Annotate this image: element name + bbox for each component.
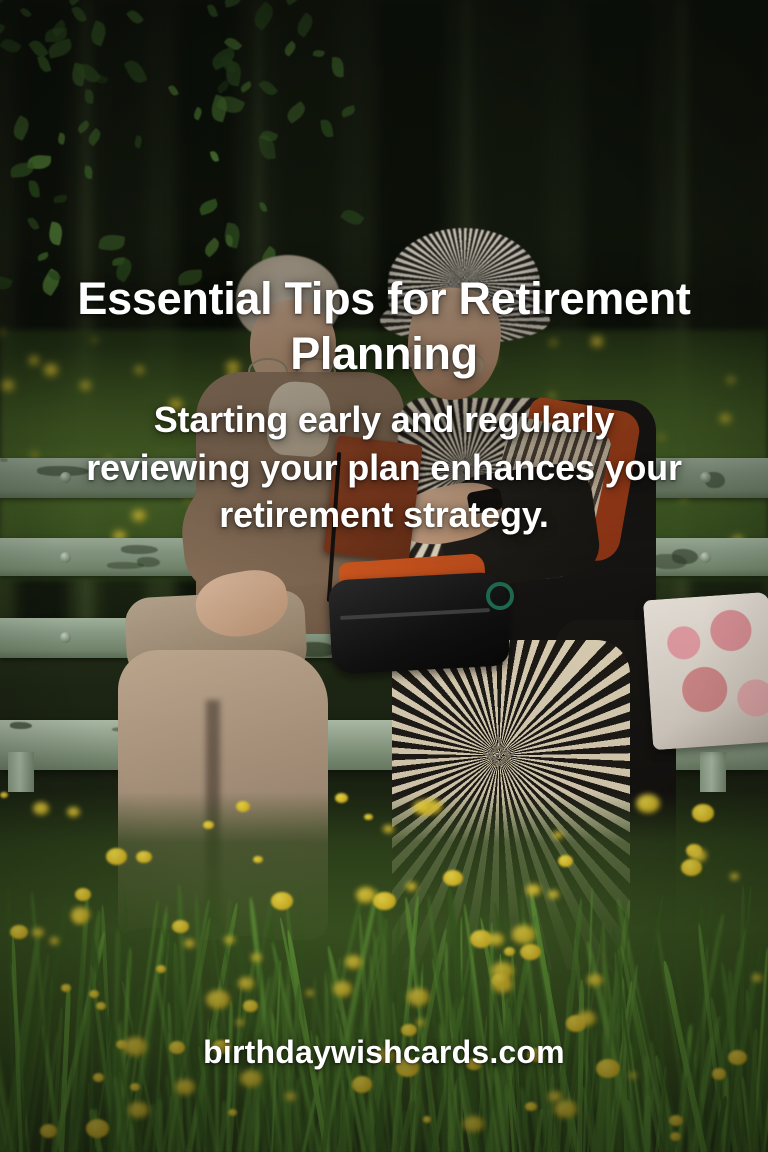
text-overlay: Essential Tips for Retirement Planning S… bbox=[0, 0, 768, 1152]
page-title: Essential Tips for Retirement Planning bbox=[40, 272, 728, 382]
pin-graphic-canvas: Essential Tips for Retirement Planning S… bbox=[0, 0, 768, 1152]
brand-watermark: birthdaywishcards.com bbox=[0, 1034, 768, 1071]
page-subtitle: Starting early and regularly reviewing y… bbox=[78, 396, 690, 539]
